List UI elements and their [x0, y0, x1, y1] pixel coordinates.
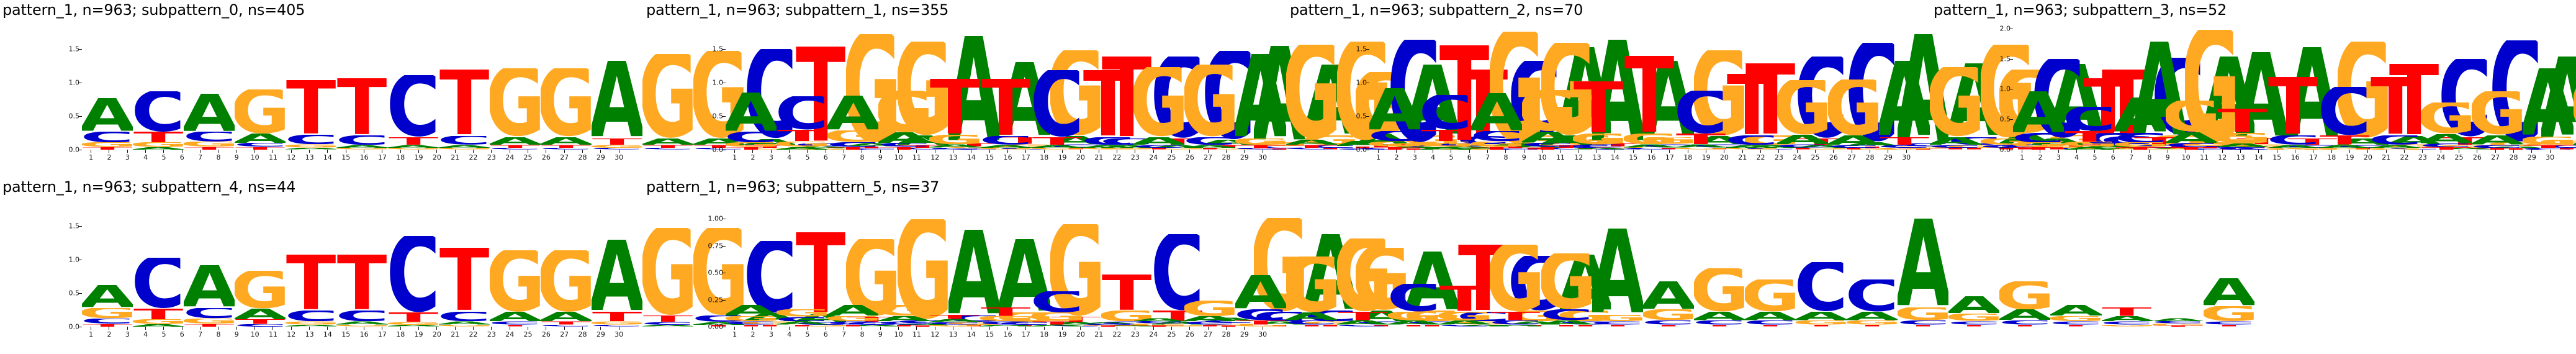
x-tick-label: 20: [2359, 154, 2377, 161]
x-tick-label: 24: [1145, 154, 1163, 161]
x-tick-6: 6: [817, 150, 835, 175]
logo-stack-area: AGCTGCATAGCTGACTTACGTGCACGTAACGTACGTGACT…: [726, 199, 1272, 327]
x-tick-mark: [1451, 150, 1451, 153]
logo-letter-G: G: [929, 135, 980, 144]
x-tick-mark: [582, 327, 583, 330]
logo-letter-G: G: [184, 142, 235, 147]
logo-letter-G: G: [235, 271, 286, 308]
x-tick-mark: [1171, 327, 1172, 330]
x-tick-label: 28: [574, 331, 592, 338]
logo-letter-G: G: [1694, 268, 1745, 311]
logo-letter-A: A: [2421, 134, 2472, 144]
x-tick-label: 11: [907, 331, 925, 338]
logo-letter-A: A: [2013, 91, 2064, 132]
x-tick-label: 23: [1126, 331, 1144, 338]
x-tick-mark: [400, 150, 401, 153]
logo-panel-0: pattern_1, n=963; subpattern_0, ns=4050.…: [0, 0, 644, 177]
logo-letter-A: A: [1490, 325, 1541, 327]
x-tick-label: 26: [1181, 154, 1199, 161]
x-tick-2: 2: [2031, 150, 2049, 175]
x-tick-6: 6: [173, 150, 191, 175]
logo-letter-G: G: [541, 250, 592, 312]
x-tick-label: 15: [2268, 154, 2286, 161]
x-tick-label: 16: [355, 154, 373, 161]
logo-letter-C: C: [82, 319, 133, 324]
x-tick-label: 2: [744, 154, 762, 161]
logo-letter-A: A: [2523, 68, 2574, 136]
x-axis: 1234567891011121314151617181920212223242…: [2013, 150, 2559, 175]
x-tick-label: 4: [137, 154, 155, 161]
logo-letter-A: A: [2102, 316, 2153, 322]
logo-letter-T: T: [2153, 325, 2204, 327]
x-tick-label: 14: [318, 331, 336, 338]
x-tick-4: 4: [2068, 150, 2086, 175]
logo-letter-C: C: [133, 258, 184, 309]
x-tick-label: 5: [155, 154, 173, 161]
logo-position-9: GATC: [490, 22, 541, 150]
logo-letter-T: T: [1694, 325, 1745, 327]
y-axis: 0.000.250.500.751.00: [644, 199, 726, 327]
logo-position-4: GACT: [878, 199, 929, 327]
logo-position-7: CTAG: [1032, 22, 1083, 150]
x-tick-label: 10: [889, 331, 907, 338]
logo-letter-A: A: [1643, 281, 1694, 309]
logo-position-5: TGCA: [1573, 22, 1624, 150]
logo-position-9: ACGT: [1133, 199, 1184, 327]
logo-letter-T: T: [592, 138, 642, 145]
x-tick-16: 16: [999, 327, 1017, 352]
x-tick-label: 20: [428, 331, 446, 338]
logo-letter-T: T: [1898, 325, 1948, 327]
logo-letter-G: G: [1184, 301, 1235, 315]
x-tick-27: 27: [1199, 327, 1217, 352]
x-tick-mark: [752, 150, 753, 153]
logo-letter-T: T: [286, 80, 336, 135]
x-tick-5: 5: [155, 327, 173, 352]
x-tick-label: 29: [1235, 154, 1253, 161]
x-tick-mark: [953, 150, 953, 153]
x-tick-label: 3: [2050, 154, 2068, 161]
logo-position-29: ACGT: [2153, 199, 2204, 327]
logo-position-1: AGCT: [82, 199, 133, 327]
x-tick-1: 1: [2013, 150, 2031, 175]
logo-position-7: CTAG: [388, 22, 439, 150]
x-axis: 1234567891011121314151617181920212223242…: [82, 327, 628, 352]
x-tick-label: 28: [1217, 331, 1235, 338]
x-tick-label: 24: [501, 154, 519, 161]
logo-position-26: GACT: [1999, 199, 2050, 327]
x-tick-7: 7: [1479, 150, 1497, 175]
logo-position-6: TCAG: [2268, 22, 2318, 150]
x-tick-label: 1: [726, 154, 744, 161]
x-tick-label: 19: [410, 154, 428, 161]
x-tick-7: 7: [835, 150, 853, 175]
logo-letter-C: C: [777, 96, 827, 130]
x-tick-label: 24: [2432, 154, 2450, 161]
logo-position-24: AGCT: [1898, 199, 1948, 327]
logo-position-16: GTCA: [1490, 199, 1541, 327]
x-tick-26: 26: [537, 327, 555, 352]
x-tick-mark: [880, 150, 881, 153]
x-tick-18: 18: [1679, 150, 1697, 175]
logo-letter-T: T: [592, 312, 642, 321]
x-tick-mark: [418, 327, 419, 330]
x-tick-label: 11: [2195, 154, 2213, 161]
logo-letter-G: G: [1522, 90, 1573, 132]
x-tick-17: 17: [2304, 150, 2322, 175]
x-tick-21: 21: [1090, 150, 1108, 175]
logo-position-6: TCAG: [336, 22, 387, 150]
logo-position-11: ATGC: [592, 199, 642, 327]
x-tick-mark: [1888, 150, 1888, 153]
x-tick-21: 21: [2377, 150, 2395, 175]
x-tick-mark: [953, 327, 953, 330]
x-tick-label: 12: [2213, 154, 2231, 161]
logo-letter-C: C: [1032, 70, 1083, 137]
x-tick-mark: [1044, 327, 1045, 330]
x-tick-label: 27: [1199, 154, 1217, 161]
x-tick-mark: [2076, 150, 2077, 153]
logo-letter-T: T: [1726, 74, 1777, 135]
x-tick-mark: [1117, 327, 1117, 330]
x-tick-5: 5: [798, 150, 816, 175]
x-tick-label: 4: [1424, 154, 1442, 161]
x-tick-label: 12: [1570, 154, 1588, 161]
x-tick-mark: [91, 327, 91, 330]
x-tick-18: 18: [392, 327, 410, 352]
x-tick-label: 7: [835, 154, 853, 161]
x-tick-mark: [1706, 150, 1706, 153]
logo-letter-C: C: [1083, 137, 1133, 145]
logo-letter-A: A: [878, 316, 929, 322]
x-tick-label: 15: [337, 331, 355, 338]
x-tick-label: 8: [853, 331, 871, 338]
x-tick-label: 7: [2122, 154, 2140, 161]
logo-letter-G: G: [1337, 238, 1388, 312]
x-tick-label: 17: [373, 331, 391, 338]
logo-letter-C: C: [2166, 143, 2217, 147]
logo-position-2: GCAT: [777, 199, 827, 327]
logo-letter-A: A: [1133, 137, 1184, 145]
x-tick-8: 8: [1497, 150, 1515, 175]
logo-letter-G: G: [2421, 102, 2472, 134]
x-tick-label: 27: [556, 154, 574, 161]
x-tick-label: 26: [537, 154, 555, 161]
x-tick-mark: [127, 150, 128, 153]
x-tick-label: 20: [1071, 154, 1089, 161]
x-tick-mark: [1226, 327, 1227, 330]
logo-letter-T: T: [980, 79, 1031, 137]
x-tick-label: 19: [1053, 331, 1071, 338]
x-tick-label: 11: [1551, 154, 1569, 161]
logo-letter-C: C: [1999, 320, 2050, 325]
x-tick-15: 15: [337, 150, 355, 175]
logo-letter-G: G: [490, 68, 541, 137]
x-tick-label: 2: [100, 331, 118, 338]
logo-letter-C: C: [1675, 91, 1726, 134]
x-tick-14: 14: [318, 327, 336, 352]
x-tick-mark: [1560, 150, 1560, 153]
logo-position-2: CTGA: [2064, 22, 2115, 150]
x-tick-label: 6: [173, 154, 191, 161]
x-tick-21: 21: [1734, 150, 1752, 175]
logo-letter-A: A: [1235, 275, 1286, 310]
logo-stack-area: AGCTCTGAACGTGATCTCGATCAGCTGATCAGGACTGATC…: [82, 199, 628, 327]
x-tick-5: 5: [2086, 150, 2104, 175]
x-tick-20: 20: [2359, 150, 2377, 175]
logo-stack-area: ACGTCTGAACGTGACTTGACTCAGCTAGTCAGGACTGACT…: [2013, 22, 2559, 150]
x-tick-label: 16: [355, 331, 373, 338]
x-tick-label: 5: [2086, 154, 2104, 161]
x-tick-label: 5: [798, 331, 816, 338]
logo-letter-A: A: [827, 96, 878, 130]
logo-letter-C: C: [2064, 107, 2115, 131]
logo-position-11: ACTG: [1235, 199, 1286, 327]
x-tick-mark: [916, 150, 917, 153]
x-tick-mark: [752, 327, 753, 330]
logo-position-20: GACT: [1694, 199, 1745, 327]
x-tick-24: 24: [501, 327, 519, 352]
x-tick-label: 30: [2541, 154, 2559, 161]
x-tick-mark: [1099, 327, 1099, 330]
x-tick-mark: [1578, 150, 1579, 153]
logo-letter-G: G: [1369, 142, 1420, 147]
logo-letter-G: G: [133, 142, 184, 147]
x-tick-11: 11: [264, 327, 282, 352]
logo-letter-C: C: [1420, 95, 1471, 130]
x-tick-11: 11: [907, 150, 925, 175]
x-tick-21: 21: [446, 327, 464, 352]
logo-letter-A: A: [592, 240, 642, 312]
logo-letter-T: T: [929, 315, 980, 319]
logo-position-3: AGCT: [827, 199, 878, 327]
logo-letter-G: G: [1286, 256, 1337, 312]
x-tick-mark: [109, 150, 109, 153]
logo-letter-T: T: [929, 79, 980, 135]
logo-position-19: AGCT: [1643, 199, 1694, 327]
x-tick-22: 22: [1108, 150, 1126, 175]
x-tick-17: 17: [1660, 150, 1678, 175]
logo-letter-G: G: [1420, 142, 1471, 147]
x-tick-mark: [1724, 150, 1724, 153]
x-tick-11: 11: [2195, 150, 2213, 175]
logo-letter-T: T: [1286, 325, 1337, 327]
x-tick-mark: [1651, 150, 1652, 153]
x-tick-label: 11: [264, 154, 282, 161]
logo-letter-C: C: [1694, 320, 1745, 325]
logo-position-4: GACT: [235, 22, 286, 150]
x-tick-label: 17: [1017, 154, 1035, 161]
x-tick-label: 6: [2104, 154, 2122, 161]
x-tick-label: 18: [1035, 154, 1053, 161]
x-tick-label: 3: [1406, 154, 1424, 161]
x-tick-27: 27: [1199, 150, 1217, 175]
logo-position-3: ACGT: [1471, 22, 1522, 150]
x-tick-mark: [1778, 150, 1779, 153]
logo-letter-A: A: [1694, 312, 1745, 320]
logo-letter-T: T: [286, 255, 336, 311]
x-tick-label: 28: [1217, 154, 1235, 161]
x-tick-label: 27: [556, 331, 574, 338]
x-tick-25: 25: [1806, 150, 1824, 175]
logo-letter-T: T: [1796, 325, 1847, 327]
x-tick-label: 23: [482, 154, 500, 161]
x-tick-mark: [1244, 327, 1245, 330]
x-tick-label: 28: [574, 154, 592, 161]
logo-letter-C: C: [1439, 325, 1490, 327]
x-tick-mark: [2094, 150, 2095, 153]
x-tick-label: 8: [209, 331, 227, 338]
x-tick-21: 21: [446, 150, 464, 175]
x-tick-19: 19: [1697, 150, 1715, 175]
x-tick-mark: [2367, 150, 2368, 153]
x-tick-mark: [436, 150, 437, 153]
y-axis: 0.00.51.01.5: [0, 199, 82, 327]
logo-position-3: AGCT: [827, 22, 878, 150]
logo-position-7: CTAG: [1675, 22, 1726, 150]
logo-letter-C: C: [1796, 262, 1847, 312]
logo-position-1: ACGT: [726, 22, 777, 150]
x-tick-mark: [1062, 150, 1063, 153]
x-tick-18: 18: [2323, 150, 2341, 175]
x-tick-26: 26: [537, 150, 555, 175]
logo-letter-G: G: [1828, 79, 1879, 136]
logo-letter-A: A: [1522, 132, 1573, 143]
logo-letter-C: C: [2268, 135, 2318, 145]
x-tick-20: 20: [428, 150, 446, 175]
x-tick-label: 26: [1824, 154, 1842, 161]
logo-position-30: AGCT: [2204, 199, 2254, 327]
logo-letter-G: G: [1948, 314, 1999, 321]
x-tick-30: 30: [1898, 150, 1916, 175]
x-axis: 1234567891011121314151617181920212223242…: [726, 150, 1272, 175]
x-tick-mark: [2240, 150, 2241, 153]
x-tick-mark: [546, 150, 546, 153]
logo-letter-A: A: [1184, 316, 1235, 322]
x-tick-label: 29: [1235, 331, 1253, 338]
x-tick-mark: [844, 150, 844, 153]
x-tick-mark: [1044, 150, 1045, 153]
y-tick-label: 0.75: [708, 242, 724, 250]
logo-letter-G: G: [133, 319, 184, 324]
x-tick-label: 21: [1090, 154, 1108, 161]
x-tick-label: 7: [1479, 154, 1497, 161]
logo-letter-T: T: [1420, 130, 1471, 142]
logo-position-9: GACT: [1133, 22, 1184, 150]
logo-letter-G: G: [1898, 307, 1948, 320]
x-tick-label: 10: [246, 331, 264, 338]
x-tick-mark: [734, 150, 735, 153]
logo-stack-area: ACGTCTGAACGTGACTTCGATCAGCTAGTCAGGATCGATC…: [82, 22, 628, 150]
x-tick-mark: [1080, 150, 1081, 153]
x-tick-label: 24: [501, 331, 519, 338]
logo-letter-C: C: [439, 136, 490, 145]
x-tick-label: 19: [1053, 154, 1071, 161]
x-tick-mark: [564, 327, 565, 330]
x-tick-label: 22: [464, 331, 482, 338]
x-tick-mark: [826, 150, 826, 153]
logo-letter-T: T: [2574, 148, 2576, 150]
logo-letter-T: T: [2268, 77, 2318, 135]
logo-letter-C: C: [1184, 137, 1235, 145]
x-tick-mark: [473, 150, 474, 153]
x-tick-label: 13: [944, 331, 962, 338]
logo-letter-G: G: [2523, 137, 2574, 145]
logo-position-2: CTGA: [1420, 22, 1471, 150]
x-tick-mark: [236, 150, 237, 153]
x-tick-label: 16: [999, 331, 1017, 338]
x-tick-mark: [989, 150, 990, 153]
x-tick-mark: [2531, 150, 2532, 153]
logo-position-10: GACT: [1184, 199, 1235, 327]
x-tick-4: 4: [137, 327, 155, 352]
logo-position-2: CTGA: [777, 22, 827, 150]
logo-position-14: CGAT: [1388, 199, 1439, 327]
x-tick-4: 4: [780, 327, 798, 352]
x-tick-10: 10: [2177, 150, 2195, 175]
logo-letter-G: G: [1847, 320, 1898, 325]
logo-letter-G: G: [827, 316, 878, 322]
x-tick-9: 9: [871, 327, 889, 352]
logo-letter-T: T: [1032, 137, 1083, 145]
x-tick-mark: [2495, 150, 2496, 153]
x-tick-25: 25: [2450, 150, 2468, 175]
logo-letter-A: A: [184, 265, 235, 308]
x-tick-mark: [418, 150, 419, 153]
x-tick-label: 5: [798, 154, 816, 161]
x-tick-label: 21: [1090, 331, 1108, 338]
x-tick-label: 29: [1879, 154, 1897, 161]
logo-letter-G: G: [2115, 142, 2166, 147]
logo-position-7: CTGA: [388, 199, 439, 327]
logo-letter-G: G: [82, 308, 133, 319]
x-tick-mark: [2204, 150, 2204, 153]
logo-letter-C: C: [1235, 309, 1286, 320]
logo-letter-T: T: [1388, 325, 1439, 327]
logo-letter-A: A: [2115, 98, 2166, 133]
x-tick-mark: [2313, 150, 2313, 153]
x-tick-29: 29: [1235, 327, 1253, 352]
x-tick-label: 1: [2013, 154, 2031, 161]
x-tick-label: 20: [1715, 154, 1733, 161]
logo-letter-A: A: [1847, 312, 1898, 320]
logo-position-3: ACGT: [184, 199, 235, 327]
x-tick-label: 11: [907, 154, 925, 161]
x-tick-17: 17: [1017, 150, 1035, 175]
logo-letter-G: G: [2204, 306, 2254, 321]
logo-letter-A: A: [1999, 309, 2050, 320]
logo-letter-A: A: [235, 134, 286, 143]
x-tick-2: 2: [1387, 150, 1405, 175]
logo-letter-G: G: [1133, 67, 1184, 137]
panel-title: pattern_1, n=963; subpattern_1, ns=355: [646, 1, 948, 19]
x-tick-label: 13: [300, 154, 318, 161]
x-tick-label: 1: [82, 331, 100, 338]
logo-letter-A: A: [1235, 54, 1286, 138]
x-tick-label: 18: [392, 331, 410, 338]
x-tick-label: 9: [871, 331, 889, 338]
x-tick-mark: [1378, 150, 1379, 153]
x-tick-label: 19: [2341, 154, 2359, 161]
logo-letter-T: T: [336, 255, 387, 311]
logo-letter-G: G: [1184, 65, 1235, 137]
x-tick-28: 28: [2505, 150, 2523, 175]
x-tick-mark: [2222, 150, 2223, 153]
logo-letter-T: T: [388, 137, 439, 145]
x-tick-26: 26: [1824, 150, 1842, 175]
logo-letter-C: C: [439, 312, 490, 321]
x-tick-mark: [1135, 327, 1135, 330]
